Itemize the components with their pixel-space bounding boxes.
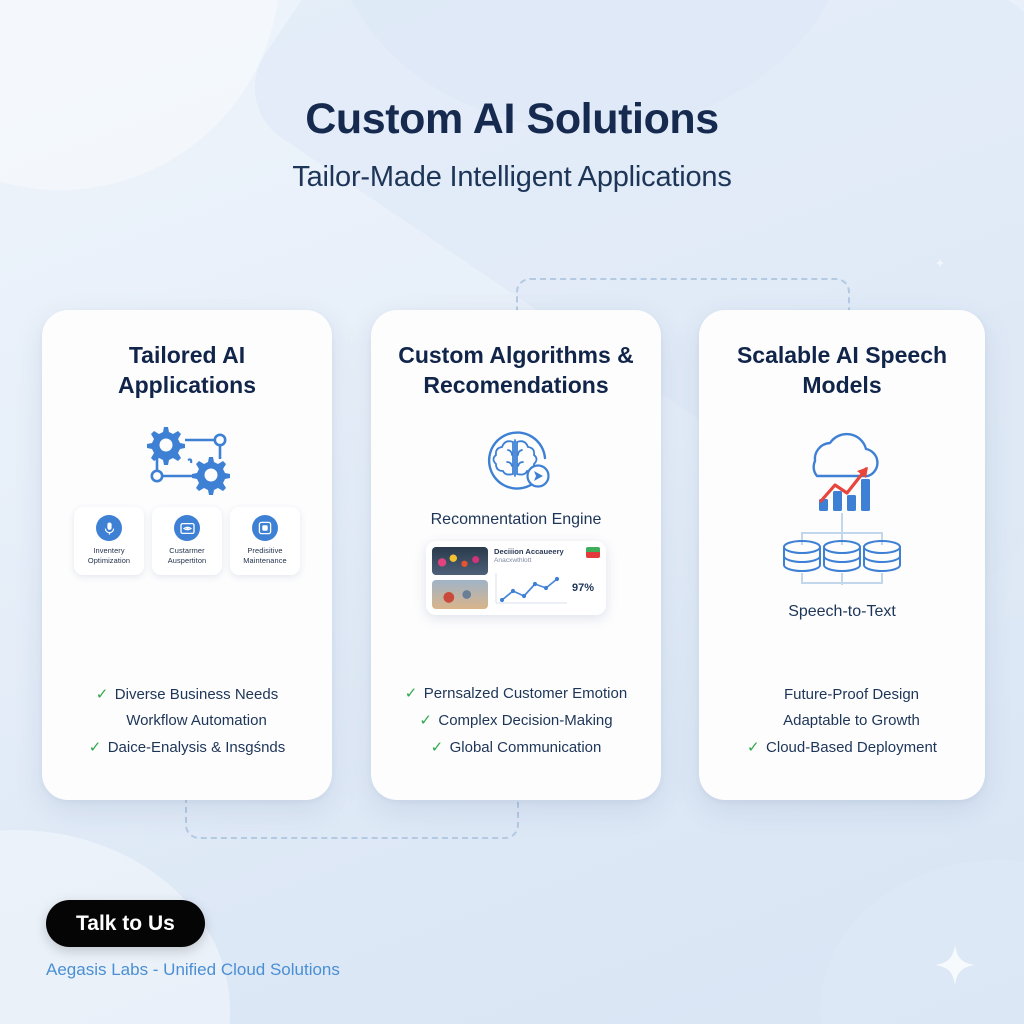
tile-label: Predisitive Maintenance: [230, 546, 300, 566]
tile-label: Inventery Optimization: [74, 546, 144, 566]
card-sub-label: Speech-to-Text: [788, 603, 896, 621]
widget-subheading: Anacxwthlott: [494, 557, 564, 566]
card-title: Custom Algorithms & Recomendations: [371, 340, 661, 401]
bullet-label: Future-Proof Design: [784, 686, 919, 703]
bullet-item: Future-Proof Design: [765, 686, 919, 703]
bullet-label: Complex Decision-Making: [438, 712, 612, 729]
bullet-label: Daice-Enalysis & Insgśnds: [108, 739, 286, 756]
thumbnail-image: [432, 580, 488, 609]
accuracy-line-chart: 97%: [494, 568, 600, 609]
card-bullets: Future-Proof Design Adaptable to Growth …: [699, 686, 985, 756]
check-icon: ✓: [431, 738, 443, 756]
gears-network-icon: [141, 421, 233, 495]
chart-badge-icon: [586, 547, 600, 558]
check-icon: ✓: [89, 738, 101, 756]
bullet-item: ✓ Global Communication: [431, 738, 602, 756]
bullet-item: Adaptable to Growth: [764, 712, 920, 729]
bullet-label: Cloud-Based Deployment: [766, 739, 937, 756]
tile-inventory-optimization[interactable]: Inventery Optimization: [74, 507, 144, 575]
card-tailored-ai-applications[interactable]: Tailored AI Applications: [42, 310, 332, 800]
line-chart-svg: [494, 571, 568, 605]
tile-predictive-maintenance[interactable]: Predisitive Maintenance: [230, 507, 300, 575]
talk-to-us-button[interactable]: Talk to Us: [46, 900, 205, 947]
thumbnail-image: [432, 547, 488, 576]
widget-heading: Deciiion Accaueery: [494, 547, 564, 556]
feature-tiles: Inventery Optimization Custarmer Auspert…: [74, 507, 300, 575]
bullet-item: ✓ Complex Decision-Making: [419, 711, 612, 729]
tile-customer-support[interactable]: Custarmer Auspertiton: [152, 507, 222, 575]
bullet-item: Workflow Automation: [107, 712, 267, 729]
monitor-screen-icon: [252, 515, 278, 541]
check-icon: ✓: [405, 684, 417, 702]
widget-thumbnails: [432, 547, 488, 609]
bullet-item: ✓ Cloud-Based Deployment: [747, 738, 937, 756]
footer-note: Aegasis Labs - Unified Cloud Solutions: [46, 960, 340, 980]
check-icon: ✓: [419, 711, 431, 729]
bullet-label: Global Communication: [450, 739, 602, 756]
brain-play-icon: [476, 421, 556, 495]
bullet-item: ✓ Diverse Business Needs: [96, 685, 278, 703]
widget-body: Deciiion Accaueery Anacxwthlott: [494, 547, 600, 609]
bullet-item: ✓ Pernsalzed Customer Emotion: [405, 684, 627, 702]
tile-label: Custarmer Auspertiton: [152, 546, 222, 566]
card-title: Scalable AI Speech Models: [699, 340, 985, 401]
bullet-label: Diverse Business Needs: [115, 686, 278, 703]
card-scalable-speech-models[interactable]: Scalable AI Speech Models: [699, 310, 985, 800]
card-title: Tailored AI Applications: [42, 340, 332, 401]
card-bullets: ✓ Diverse Business Needs Workflow Automa…: [42, 685, 332, 756]
bullet-item: ✓ Daice-Enalysis & Insgśnds: [89, 738, 286, 756]
bullet-label: Workflow Automation: [126, 712, 267, 729]
accuracy-percent-label: 97%: [572, 582, 594, 594]
poster-canvas: Custom AI Solutions Tailor-Made Intellig…: [0, 0, 1024, 1024]
bullet-label: Adaptable to Growth: [783, 712, 920, 729]
widget-header: Deciiion Accaueery Anacxwthlott: [494, 547, 600, 566]
card-sub-label: Recomnentation Engine: [431, 511, 602, 529]
check-icon: ✓: [747, 738, 759, 756]
bullet-label: Pernsalzed Customer Emotion: [424, 685, 627, 702]
recommendation-preview-widget[interactable]: Deciiion Accaueery Anacxwthlott: [426, 541, 606, 615]
microphone-icon: [96, 515, 122, 541]
cards-container: Tailored AI Applications: [0, 0, 1024, 1024]
check-icon: ✓: [96, 685, 108, 703]
card-custom-algorithms[interactable]: Custom Algorithms & Recomendations: [371, 310, 661, 800]
cloud-chart-database-icon: [767, 413, 917, 603]
customer-card-icon: [174, 515, 200, 541]
card-bullets: ✓ Pernsalzed Customer Emotion ✓ Complex …: [371, 684, 661, 756]
